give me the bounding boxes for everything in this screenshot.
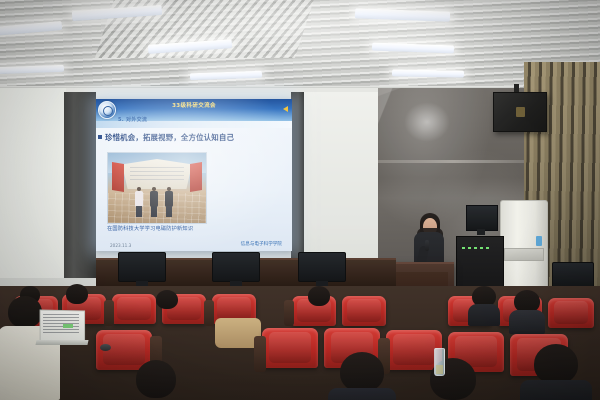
- slide-bullet-text: 珍惜机会，拓展视野，全方位认知自己: [105, 132, 234, 143]
- laptop-document-text: [43, 314, 79, 334]
- water-bottle-on-desk: [434, 348, 445, 376]
- handheld-microphone: [425, 240, 429, 251]
- rack-led-5: [486, 247, 489, 249]
- ac-display-panel: [536, 236, 542, 246]
- seat-armrest: [284, 300, 294, 326]
- left-curtain-panel: [64, 92, 96, 278]
- photo-person-3: [164, 187, 173, 217]
- slide-footer-org: 信息与电子科学学院: [241, 241, 282, 247]
- photo-monument-detail: [130, 167, 184, 183]
- photo-person-2: [149, 187, 158, 217]
- seat[interactable]: [262, 328, 318, 368]
- desk-monitor-2: [212, 252, 260, 282]
- rack-led-2: [468, 247, 471, 249]
- laptop-keyboard-base[interactable]: [35, 340, 88, 345]
- photo-red-pillar-left: [112, 162, 124, 192]
- side-monitor-stand: [477, 229, 485, 235]
- photo-person-1: [134, 187, 143, 217]
- center-white-wall: [302, 92, 380, 278]
- seat-armrest: [204, 300, 214, 326]
- right-curtain-panel: [291, 92, 304, 278]
- air-conditioner-unit: [500, 200, 548, 292]
- seat[interactable]: [342, 296, 386, 326]
- computer-mouse[interactable]: [100, 344, 111, 351]
- seat-armrest: [254, 336, 266, 372]
- desk-monitor-3: [298, 252, 346, 282]
- lecture-hall-photo: 33级科研交流会 5. 对外交流 珍惜机会，拓展视野，全方位认知自己 在国防科技…: [0, 0, 600, 400]
- seat[interactable]: [112, 294, 156, 324]
- left-white-wall: [0, 88, 66, 278]
- seat-armrest: [104, 300, 114, 326]
- desk-monitor-4: [552, 262, 594, 288]
- photo-red-pillar-right: [190, 162, 202, 192]
- rack-led-4: [480, 247, 483, 249]
- rack-led-3: [474, 247, 477, 249]
- side-monitor: [466, 205, 498, 231]
- marble-seam: [378, 160, 528, 163]
- slide-section-label: 5. 对外交流: [118, 116, 147, 123]
- marble-light-reflection: [404, 102, 450, 142]
- slide-title: 33级科研交流会: [96, 101, 292, 109]
- slide-photo: [107, 152, 207, 224]
- seat[interactable]: [548, 298, 594, 328]
- wall-speaker-icon: [493, 92, 547, 132]
- slide-photo-caption: 在国防科技大学学习电磁防护新知识: [107, 225, 193, 232]
- equipment-rack: [456, 236, 504, 292]
- projection-screen[interactable]: 33级科研交流会 5. 对外交流 珍惜机会，拓展视野，全方位认知自己 在国防科技…: [96, 99, 292, 251]
- desk-monitor-1: [118, 252, 166, 282]
- fluorescent-light-8: [392, 69, 464, 77]
- bullet-square-icon: [98, 135, 102, 139]
- slide-date-stamp: 2023.11.3: [110, 243, 131, 248]
- speaker-sound-icon: [283, 106, 288, 112]
- laptop-text-highlight: [63, 324, 73, 328]
- ac-vent: [504, 248, 544, 261]
- rack-led-1: [462, 247, 465, 249]
